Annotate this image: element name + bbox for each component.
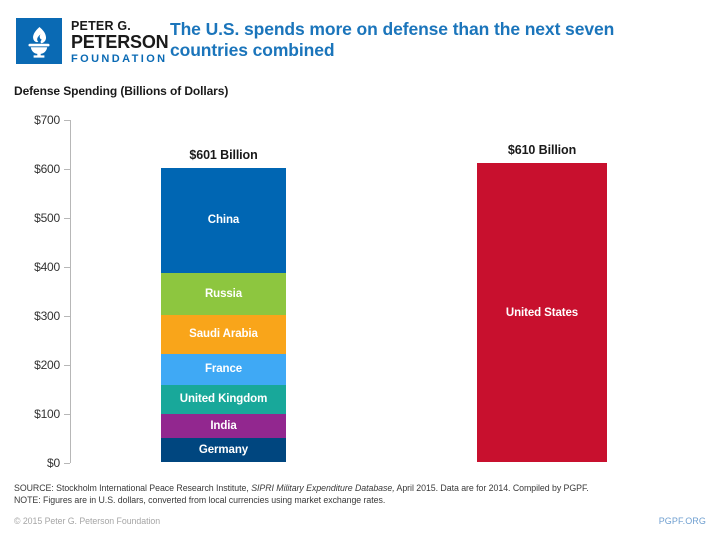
bar-segment[interactable]: France [161,354,286,384]
torch-flame-icon [16,18,62,64]
bar-united-states[interactable]: $610 Billion United States [477,163,607,462]
source-italic: SIPRI Military Expenditure Database, [251,483,394,493]
y-axis-label: $0 [0,456,60,470]
bar-segment[interactable]: Germany [161,438,286,462]
logo-line-foundation: FOUNDATION [71,52,168,66]
y-axis-label: $200 [0,358,60,372]
bar-segment[interactable]: India [161,414,286,439]
logo-line-peterson: PETERSON [71,33,168,52]
logo-line-peter-g: PETER G. [71,19,168,33]
united-states-segments: United States [477,163,607,462]
y-axis-tick [64,120,70,121]
peterson-foundation-logo: PETER G. PETERSON FOUNDATION [16,18,168,66]
bar-total-label-next-seven: $601 Billion [189,148,257,162]
bar-segment[interactable]: China [161,168,286,274]
copyright-text: © 2015 Peter G. Peterson Foundation [14,516,160,526]
y-axis-label-text: $400 [2,260,60,274]
y-axis-line [70,120,71,463]
page-footer: SOURCE: Stockholm International Peace Re… [0,480,720,540]
chart-plot-area: $700$600$500$400$300$200$100$0 $601 Bill… [0,110,720,478]
y-axis-tick [64,267,70,268]
y-axis-label-text: $300 [2,309,60,323]
y-axis-label: $600 [0,162,60,176]
y-axis-tick [64,316,70,317]
y-axis-label: $400 [0,260,60,274]
y-axis-label-text: $600 [2,162,60,176]
y-axis-label-text: $200 [2,358,60,372]
bar-segment[interactable]: United Kingdom [161,385,286,414]
source-suffix: April 2015. Data are for 2014. Compiled … [395,483,589,493]
source-note: SOURCE: Stockholm International Peace Re… [14,483,589,493]
source-prefix: SOURCE: Stockholm International Peace Re… [14,483,251,493]
bar-segment[interactable]: Russia [161,273,286,314]
y-axis-label: $300 [0,309,60,323]
page-header: PETER G. PETERSON FOUNDATION The U.S. sp… [0,0,720,78]
methodology-note: NOTE: Figures are in U.S. dollars, conve… [14,495,385,505]
pgpf-org-link[interactable]: PGPF.ORG [659,516,706,526]
y-axis-label: $700 [0,113,60,127]
y-axis-label-text: $700 [2,113,60,127]
y-axis-tick [64,218,70,219]
y-axis-label-text: $100 [2,407,60,421]
bar-total-label-united-states: $610 Billion [508,143,576,157]
y-axis-tick [64,414,70,415]
page-title: The U.S. spends more on defense than the… [170,19,690,61]
y-axis-tick [64,169,70,170]
stacked-segments: ChinaRussiaSaudi ArabiaFranceUnited King… [161,168,286,462]
y-axis-label: $500 [0,211,60,225]
bar-segment[interactable]: Saudi Arabia [161,315,286,355]
y-axis-label-text: $0 [2,456,60,470]
bar-next-seven-countries[interactable]: $601 Billion ChinaRussiaSaudi ArabiaFran… [161,168,286,462]
y-axis-tick [64,463,70,464]
y-axis-tick [64,365,70,366]
logo-wordmark: PETER G. PETERSON FOUNDATION [71,18,168,66]
bar-segment[interactable]: United States [477,163,607,462]
y-axis-label-text: $500 [2,211,60,225]
y-axis-label: $100 [0,407,60,421]
axis-title: Defense Spending (Billions of Dollars) [14,84,228,98]
